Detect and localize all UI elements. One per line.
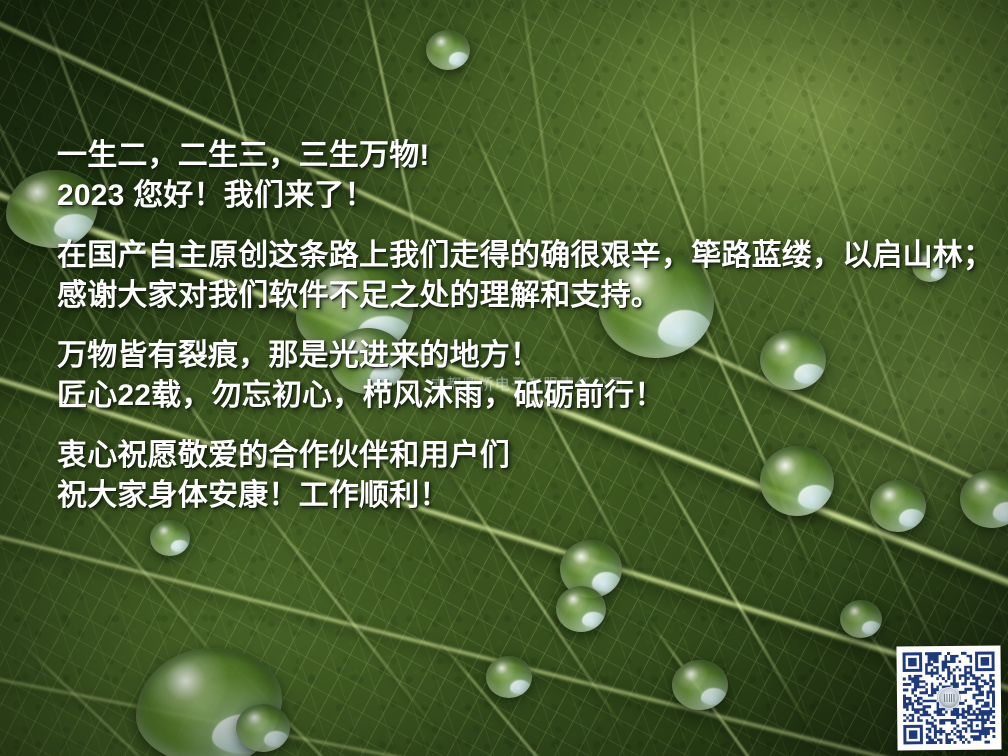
water-droplet xyxy=(556,586,606,632)
qr-center-emblem-icon xyxy=(938,687,960,709)
paragraph-wishes: 衷心祝愿敬爱的合作伙伴和用户们 祝大家身体安康！工作顺利！ xyxy=(57,436,957,516)
message-line: 感谢大家对我们软件不足之处的理解和支持。 xyxy=(57,276,957,316)
message-line: 万物皆有裂痕，那是光进来的地方！ xyxy=(57,336,957,376)
paragraph-gratitude: 在国产自主原创这条路上我们走得的确很艰辛，筚路蓝缕，以启山林； 感谢大家对我们软… xyxy=(57,236,957,316)
message-line: 衷心祝愿敬爱的合作伙伴和用户们 xyxy=(57,436,957,476)
qr-code[interactable] xyxy=(896,645,1001,750)
water-droplet xyxy=(840,600,882,638)
message-line: 匠心22载，勿忘初心，栉风沐雨，砥砺前行！ xyxy=(57,376,957,416)
qr-code-matrix xyxy=(903,652,996,745)
water-droplet xyxy=(426,30,470,70)
greeting-poster: 成都鼎桥电子有限责任公司 一生二，二生三，三生万物! 2023 您好！我们来了！… xyxy=(0,0,1008,756)
paragraph-greeting: 一生二，二生三，三生万物! 2023 您好！我们来了！ xyxy=(57,136,957,216)
message-text-block: 一生二，二生三，三生万物! 2023 您好！我们来了！ 在国产自主原创这条路上我… xyxy=(57,136,957,516)
water-droplet xyxy=(486,656,532,698)
water-droplet xyxy=(150,520,190,556)
message-line: 2023 您好！我们来了！ xyxy=(57,176,957,216)
message-line: 一生二，二生三，三生万物! xyxy=(57,136,957,176)
water-droplet xyxy=(672,660,728,710)
message-line: 在国产自主原创这条路上我们走得的确很艰辛，筚路蓝缕，以启山林； xyxy=(57,236,957,276)
water-droplet xyxy=(236,704,290,752)
message-line: 祝大家身体安康！工作顺利！ xyxy=(57,476,957,516)
paragraph-aspiration: 万物皆有裂痕，那是光进来的地方！ 匠心22载，勿忘初心，栉风沐雨，砥砺前行！ xyxy=(57,336,957,416)
